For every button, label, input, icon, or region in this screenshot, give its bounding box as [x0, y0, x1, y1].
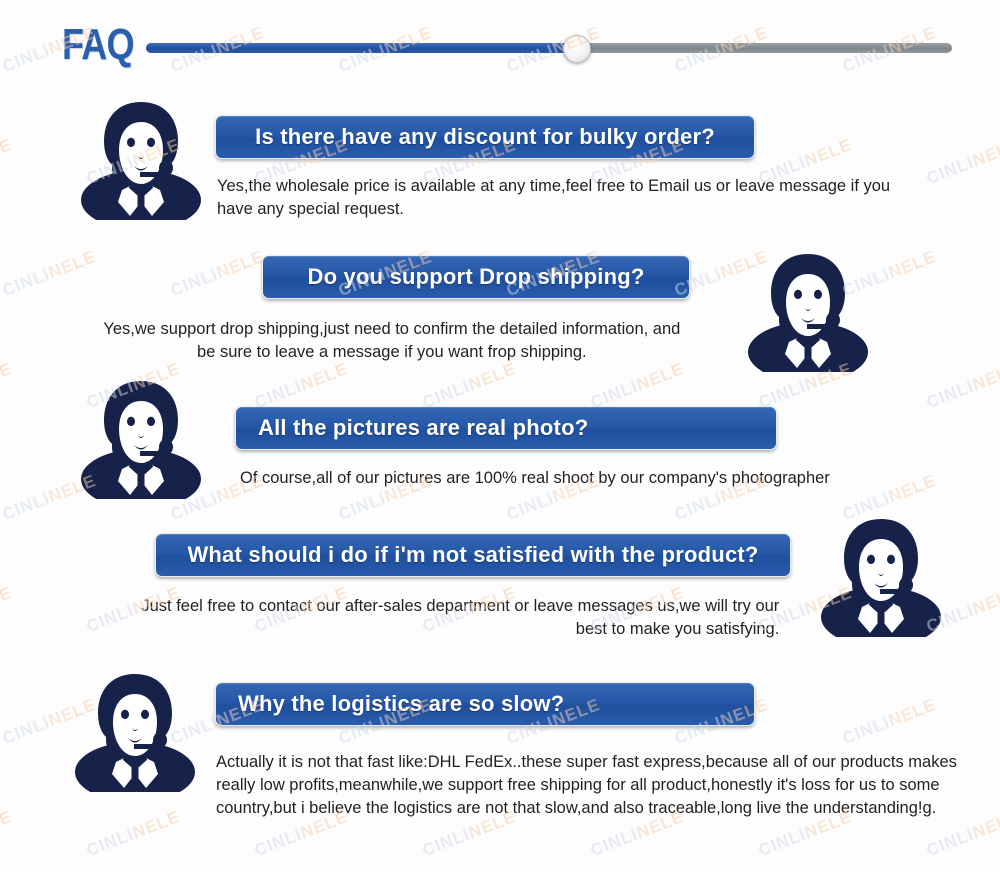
faq-question-bar[interactable]: Is there have any discount for bulky ord… [215, 115, 755, 159]
watermark-text: CINLINELE [924, 135, 1000, 189]
watermark-text: CINLINELE [252, 359, 351, 413]
support-agent-avatar [818, 513, 944, 637]
watermark-text: CINLINELE [0, 583, 15, 637]
faq-answer-text: Of course,all of our pictures are 100% r… [240, 466, 919, 489]
faq-answer-text: Actually it is not that fast like:DHL Fe… [216, 750, 967, 819]
watermark-text: CINLINELE [0, 135, 15, 189]
watermark-text: CINLINELE [84, 807, 183, 861]
watermark-text: CINLINELE [924, 359, 1000, 413]
watermark-text: CINLINELE [588, 359, 687, 413]
watermark-text: CINLINELE [0, 247, 99, 301]
support-agent-avatar [745, 248, 871, 372]
watermark-text: CINLINELE [420, 359, 519, 413]
support-agent-avatar [78, 96, 204, 220]
slider-knob[interactable] [563, 35, 591, 63]
faq-question-bar[interactable]: Why the logistics are so slow? [215, 682, 755, 726]
page-header: FAQ [0, 0, 1000, 92]
faq-answer-text: Just feel free to contact our after-sale… [110, 594, 779, 640]
faq-answer-text: Yes,the wholesale price is available at … [217, 174, 906, 220]
slider-fill [146, 43, 581, 53]
progress-slider[interactable] [146, 43, 952, 53]
support-agent-avatar [78, 375, 204, 499]
faq-question-bar[interactable]: All the pictures are real photo? [235, 406, 777, 450]
support-agent-avatar [72, 668, 198, 792]
faq-question-bar[interactable]: What should i do if i'm not satisfied wi… [155, 533, 791, 577]
watermark-text: CINLINELE [168, 247, 267, 301]
faq-question-bar[interactable]: Do you support Drop shipping? [262, 255, 690, 299]
watermark-text: CINLINELE [840, 695, 939, 749]
faq-page: CINLINELECINLINELECINLINELECINLINELECINL… [0, 0, 1000, 872]
watermark-text: CINLINELE [0, 807, 15, 861]
page-title: FAQ [62, 20, 134, 70]
faq-answer-text: Yes,we support drop shipping,just need t… [96, 317, 688, 363]
watermark-text: CINLINELE [0, 359, 15, 413]
